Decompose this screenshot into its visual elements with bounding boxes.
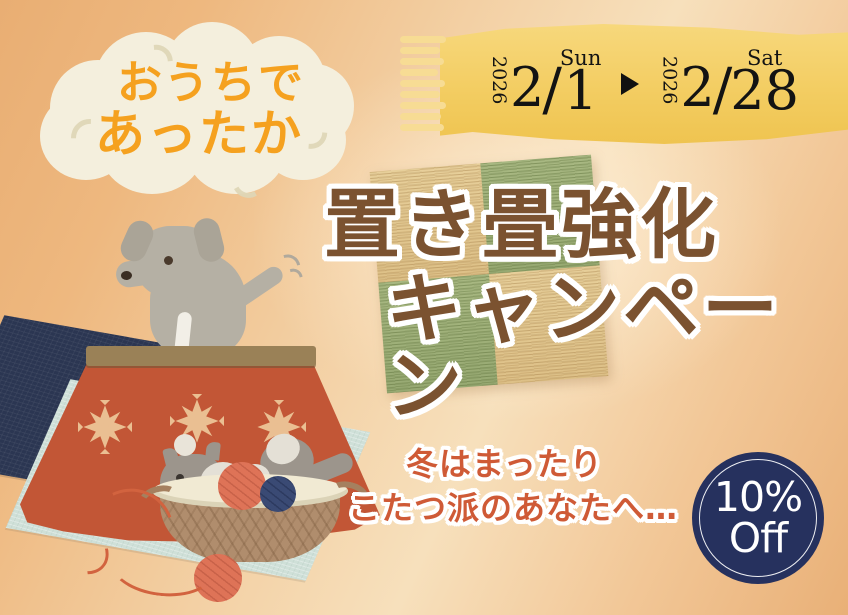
snowflake-motif xyxy=(78,400,132,454)
dog-eye xyxy=(164,256,173,265)
dog-illustration xyxy=(120,216,300,356)
catchcopy-text: おうちで あったか xyxy=(36,22,356,197)
end-day: 28 xyxy=(730,65,799,116)
promo-banner: おうちで あったか 2026 2 / Sun 1 xyxy=(0,0,848,615)
tagline-line1: 冬はまったり xyxy=(406,446,678,484)
campaign-period-scarf: 2026 2 / Sun 1 2026 2 / Sat 28 xyxy=(400,24,848,144)
end-month: 2 xyxy=(680,64,714,113)
yarn-ball-coral xyxy=(218,462,266,510)
start-month: 2 xyxy=(510,64,544,113)
headline-line2: キャンペーン xyxy=(386,270,836,425)
campaign-period-text: 2026 2 / Sun 1 2026 2 / Sat 28 xyxy=(440,24,848,144)
yarn-ball-navy xyxy=(260,476,296,512)
tagline-line2: こたつ派のあなたへ… xyxy=(348,490,678,528)
discount-percent: 10% xyxy=(714,478,802,517)
dog-nose xyxy=(121,271,132,280)
headline: 置き畳強化 キャンペーン xyxy=(316,186,836,425)
tagline: 冬はまったり こたつ派のあなたへ… xyxy=(348,446,678,528)
catchcopy-line1: おうちで xyxy=(87,60,305,105)
end-year: 2026 xyxy=(659,56,678,104)
period-start: 2026 2 / Sun 1 xyxy=(489,48,601,120)
arrow-right-icon xyxy=(621,73,639,95)
cat-head-yarn xyxy=(174,434,196,456)
start-year: 2026 xyxy=(489,56,508,104)
discount-badge[interactable]: 10% Off xyxy=(692,452,824,584)
start-day: 1 xyxy=(563,65,597,116)
period-end: 2026 2 / Sat 28 xyxy=(659,48,799,120)
discount-off-label: Off xyxy=(729,518,787,558)
headline-line1: 置き畳強化 xyxy=(324,186,836,264)
catchcopy-line2: あったか xyxy=(89,109,303,159)
kotatsu-tabletop xyxy=(86,346,316,366)
catchcopy-cloud: おうちで あったか xyxy=(36,22,356,197)
